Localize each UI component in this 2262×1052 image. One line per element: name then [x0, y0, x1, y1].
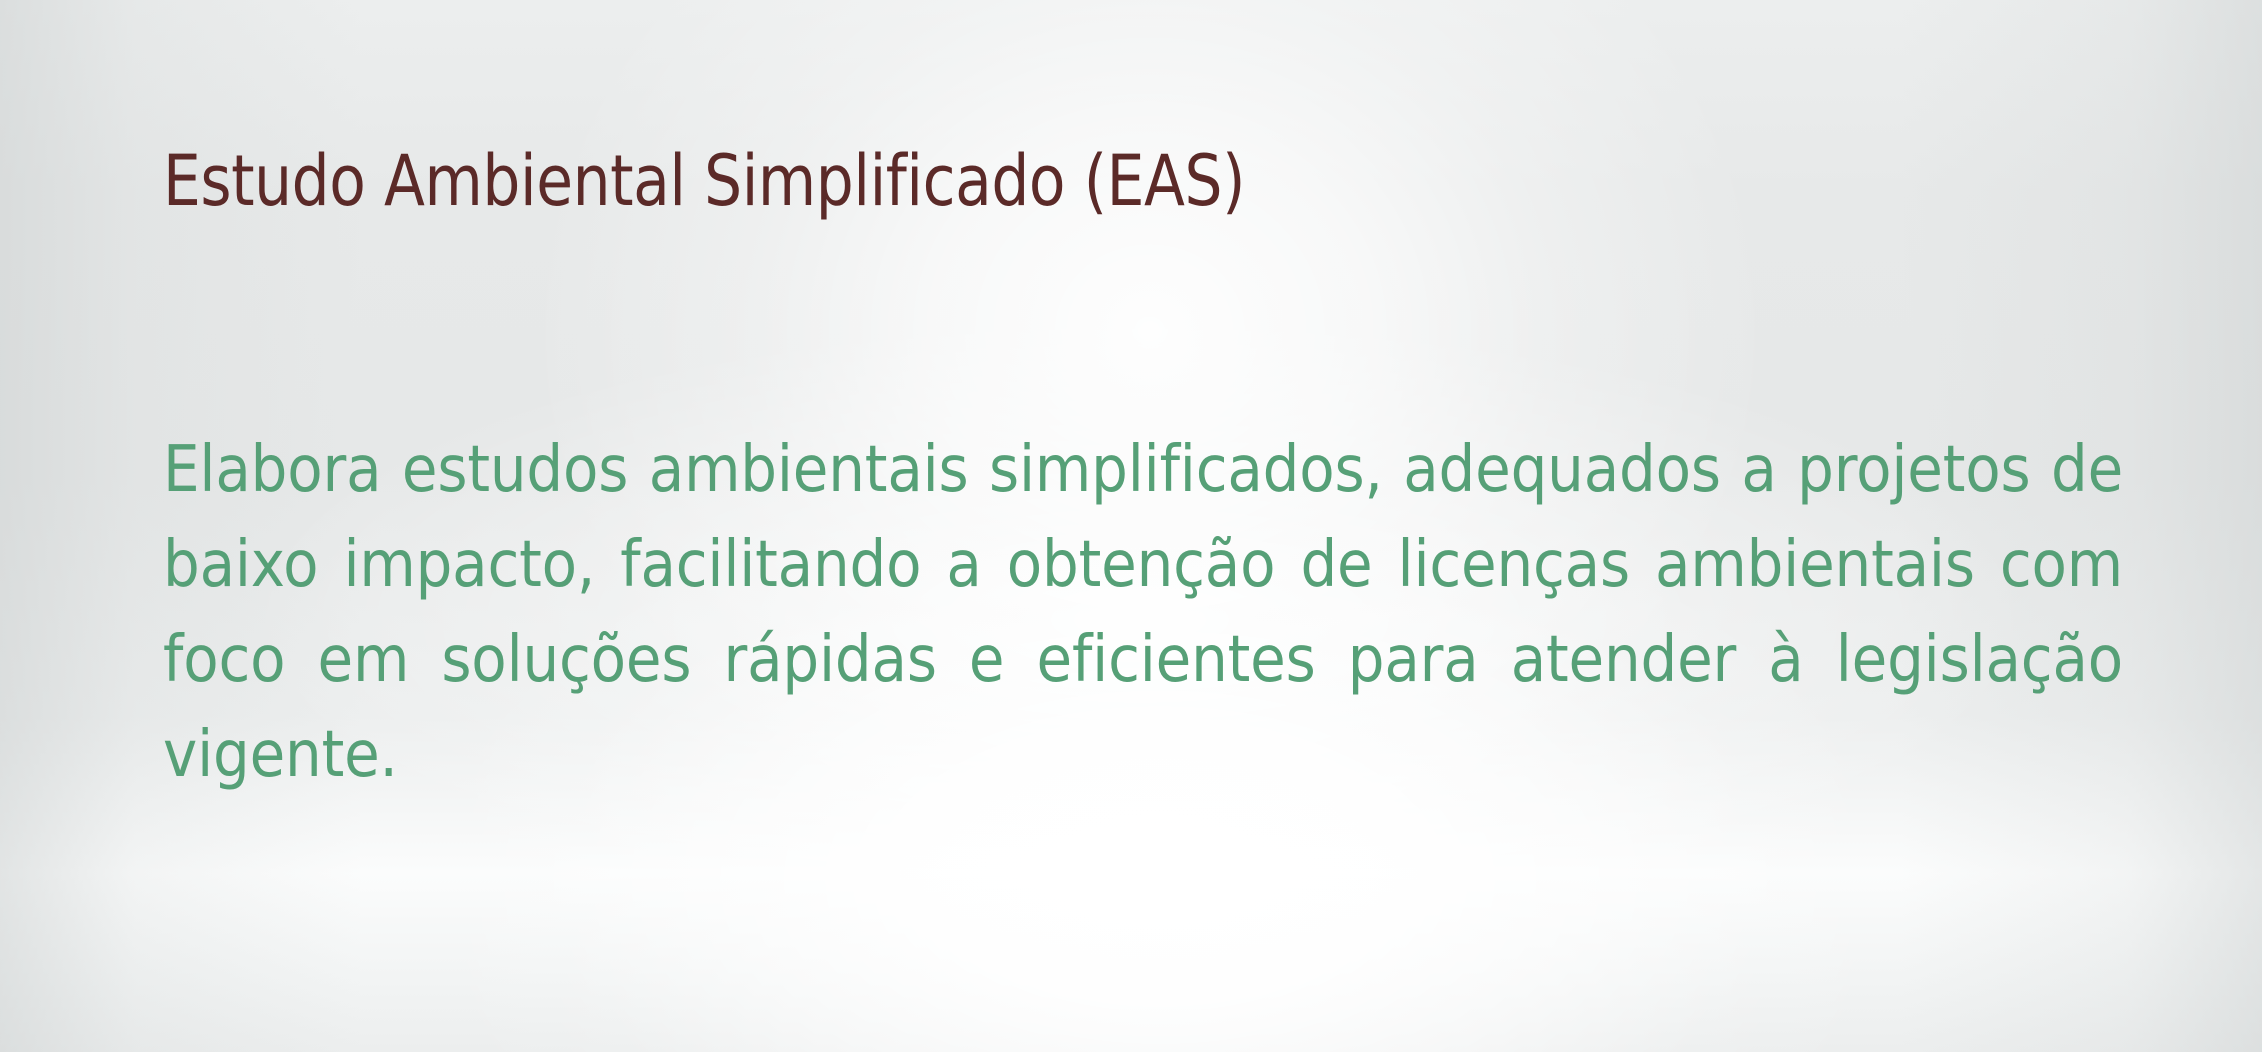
slide-title: Estudo Ambiental Simplificado (EAS) — [163, 144, 1839, 220]
slide-body-text: Elabora estudos ambientais simplificados… — [163, 423, 2123, 898]
slide-body-paragraph: Elabora estudos ambientais simplificados… — [163, 423, 2123, 803]
presentation-slide: Estudo Ambiental Simplificado (EAS) Elab… — [0, 0, 2262, 1052]
slide-content: Estudo Ambiental Simplificado (EAS) Elab… — [163, 0, 2123, 1052]
